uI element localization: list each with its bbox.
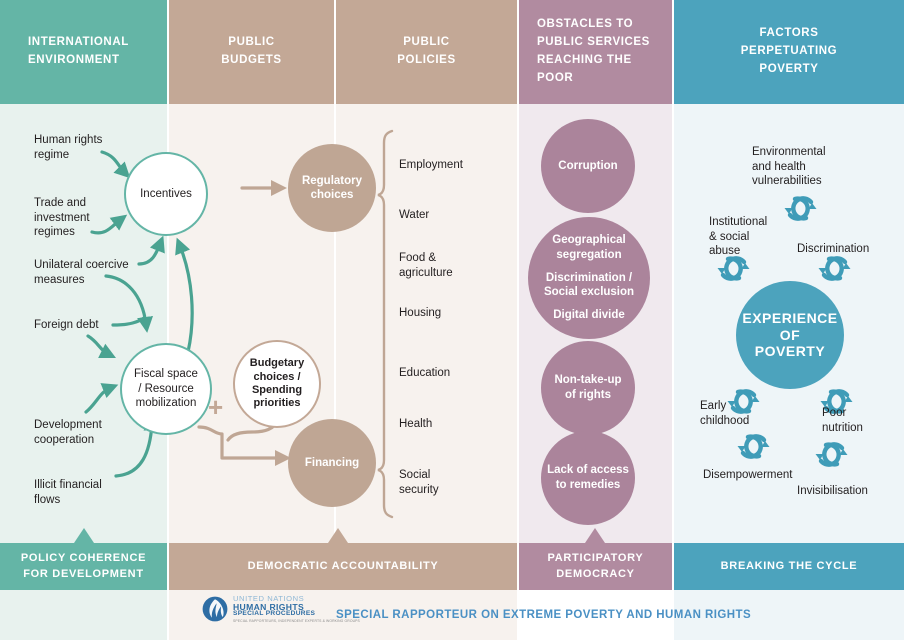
sector-housing: Housing — [399, 306, 441, 321]
factor-invisibilisation: Invisibilisation — [797, 484, 868, 499]
sector-water: Water — [399, 208, 429, 223]
footer-participatory-democracy: PARTICIPATORY DEMOCRACY — [519, 543, 672, 590]
factor-poor-nutrition: Poor nutrition — [822, 406, 892, 435]
driver-foreign-debt: Foreign debt — [34, 318, 144, 333]
footer-democratic-accountability: DEMOCRATIC ACCOUNTABILITY — [169, 543, 517, 590]
header-line: PERPETUATING — [741, 45, 837, 57]
header-factors-perpetuating-poverty: FACTORS PERPETUATING POVERTY — [674, 0, 904, 104]
obstacle-non-take-up-of-rights: Non-take-up of rights — [541, 341, 635, 435]
driver-development-cooperation: Development cooperation — [34, 418, 134, 447]
header-line: POVERTY — [759, 63, 818, 75]
header-international-environment: INTERNATIONAL ENVIRONMENT — [0, 0, 167, 104]
sector-social-security: Social security — [399, 468, 439, 497]
header-line: POLICIES — [397, 54, 455, 66]
driver-illicit-financial-flows: Illicit financial flows — [34, 478, 134, 507]
obstacle-lack-of-access-to-remedies: Lack of access to remedies — [541, 431, 635, 525]
header-public-policies: PUBLIC POLICIES — [336, 0, 517, 104]
factor-discrimination: Discrimination — [797, 242, 869, 257]
header-line: INTERNATIONAL — [28, 36, 129, 48]
sector-health: Health — [399, 417, 432, 432]
header-obstacles: OBSTACLES TO PUBLIC SERVICES REACHING TH… — [519, 0, 672, 104]
driver-trade-investment-regimes: Trade and investment regimes — [34, 196, 126, 240]
un-flame-icon — [202, 594, 228, 624]
sector-employment: Employment — [399, 158, 463, 173]
factor-institutional-social-abuse: Institutional & social abuse — [709, 215, 801, 259]
factor-disempowerment: Disempowerment — [703, 468, 792, 483]
header-line: PUBLIC — [228, 36, 274, 48]
footer-breaking-the-cycle: BREAKING THE CYCLE — [674, 543, 904, 590]
circle-experience-of-poverty: EXPERIENCE OF POVERTY — [736, 281, 844, 389]
bottom-strip-left — [0, 590, 167, 640]
header-line: FACTORS — [760, 27, 819, 39]
circle-fiscal-space: Fiscal space / Resource mobilization — [120, 343, 212, 435]
sector-food-agriculture: Food & agriculture — [399, 251, 453, 280]
driver-human-rights-regime: Human rights regime — [34, 133, 126, 162]
infographic-root: INTERNATIONAL ENVIRONMENT PUBLIC BUDGETS… — [0, 0, 904, 640]
plus-sign: + — [208, 394, 223, 420]
obstacle-corruption: Corruption — [541, 119, 635, 213]
factor-early-childhood: Early childhood — [700, 399, 766, 428]
header-line: BUDGETS — [221, 54, 281, 66]
sector-education: Education — [399, 366, 450, 381]
circle-financing: Financing — [288, 419, 376, 507]
circle-regulatory-choices: Regulatory choices — [288, 144, 376, 232]
header-line: REACHING THE — [537, 54, 632, 66]
header-line: PUBLIC — [403, 36, 449, 48]
header-line: ENVIRONMENT — [28, 54, 120, 66]
header-line: POOR — [537, 72, 573, 84]
circle-budgetary-choices: Budgetary choices / Spending priorities — [233, 340, 321, 428]
factor-environmental-health-vulnerabilities: Environmental and health vulnerabilities — [752, 145, 872, 189]
obstacle-segregation-discrimination-digital: Geographical segregation Discrimination … — [528, 217, 650, 339]
footer-policy-coherence: POLICY COHERENCE FOR DEVELOPMENT — [0, 543, 167, 590]
driver-unilateral-coercive-measures: Unilateral coercive measures — [34, 258, 156, 287]
header-line: OBSTACLES TO — [537, 18, 633, 30]
circle-incentives: Incentives — [124, 152, 208, 236]
header-line: PUBLIC SERVICES — [537, 36, 650, 48]
tagline: SPECIAL RAPPORTEUR ON EXTREME POVERTY AN… — [336, 609, 751, 621]
header-public-budgets: PUBLIC BUDGETS — [169, 0, 334, 104]
